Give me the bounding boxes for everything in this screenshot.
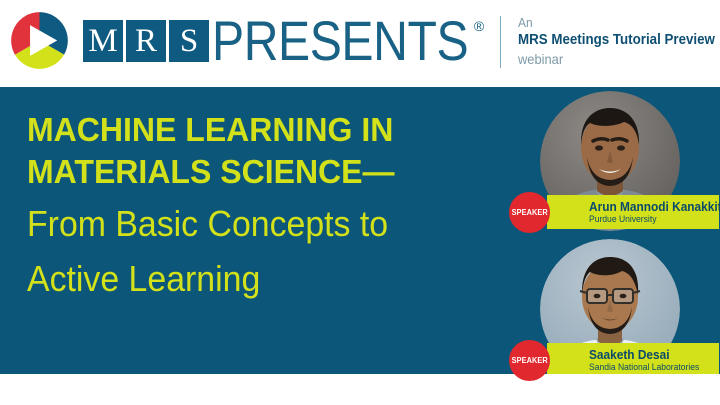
tagline-series-name: MRS Meetings Tutorial Preview — [518, 31, 702, 50]
speaker-1-affiliation: Purdue University — [589, 214, 713, 225]
header-divider — [500, 16, 501, 68]
bottom-white-strip — [0, 374, 720, 405]
page-subtitle-line-1: From Basic Concepts to — [27, 200, 422, 248]
tagline-format: webinar — [518, 50, 702, 68]
speaker-2-namebar: Saaketh Desai Sandia National Laboratori… — [547, 343, 719, 377]
title-block: MACHINE LEARNING IN MATERIALS SCIENCE— F… — [27, 109, 447, 303]
mrs-letter-r: R — [126, 20, 166, 62]
tagline-prefix: An — [518, 14, 702, 31]
registered-trademark-icon: ® — [474, 18, 484, 34]
mrs-letter-m: M — [83, 20, 123, 62]
mrs-circle-play-logo-icon — [10, 11, 69, 70]
mrs-logotype: M R S — [83, 20, 209, 62]
speaker-2-name: Saaketh Desai — [589, 348, 713, 362]
speaker-2-affiliation: Sandia National Laboratories — [589, 362, 713, 373]
speaker-1-badge-label: SPEAKER — [511, 209, 547, 217]
speaker-1-name: Arun Mannodi Kanakkithodi — [589, 200, 713, 214]
presents-text: PRESENTS — [212, 12, 468, 70]
header-tagline: An MRS Meetings Tutorial Preview webinar — [518, 14, 718, 68]
speaker-1-badge: SPEAKER — [509, 192, 550, 233]
header-bar: M R S PRESENTS ® An MRS Meetings Tutoria… — [0, 0, 720, 87]
speaker-2-badge-label: SPEAKER — [511, 357, 547, 365]
page-subtitle-line-2: Active Learning — [27, 255, 422, 303]
speaker-2-badge: SPEAKER — [509, 340, 550, 381]
hero-panel: MACHINE LEARNING IN MATERIALS SCIENCE— F… — [0, 87, 720, 374]
webinar-promo-slide: M R S PRESENTS ® An MRS Meetings Tutoria… — [0, 0, 720, 405]
page-title-line-2: MATERIALS SCIENCE— — [27, 151, 434, 193]
page-title-line-1: MACHINE LEARNING IN — [27, 109, 434, 151]
speaker-1-namebar: Arun Mannodi Kanakkithodi Purdue Univers… — [547, 195, 719, 229]
mrs-letter-s: S — [169, 20, 209, 62]
presents-wordmark: PRESENTS ® — [212, 12, 484, 70]
